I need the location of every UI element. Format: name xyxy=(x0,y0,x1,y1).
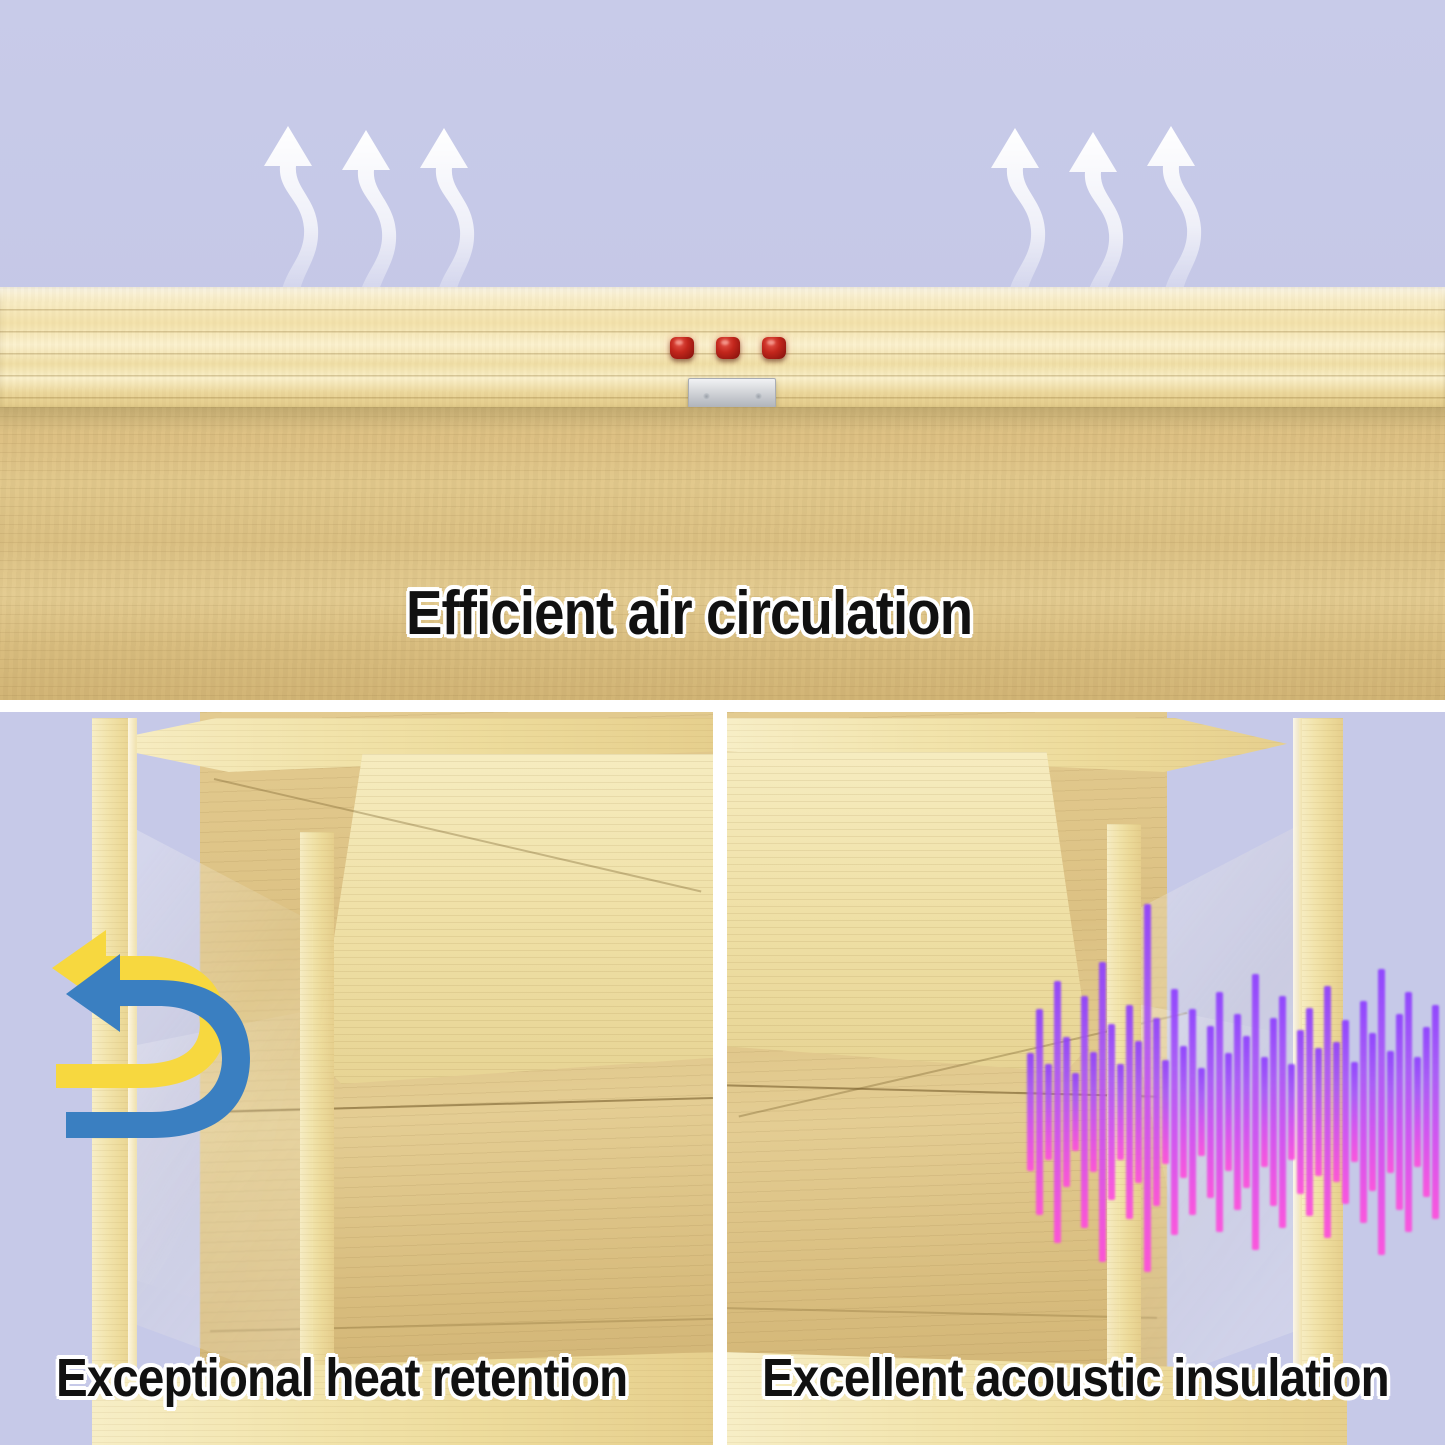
waveform-bar xyxy=(1324,986,1331,1238)
waveform-bar xyxy=(1243,1036,1250,1188)
waveform-bar xyxy=(1432,1005,1439,1219)
waveform-bar xyxy=(1306,1008,1313,1216)
waveform-bar xyxy=(1135,1041,1142,1183)
waveform-bar xyxy=(1180,1046,1187,1178)
face-shadow xyxy=(0,407,1445,433)
waveform-bar xyxy=(1405,992,1412,1232)
waveform-bar xyxy=(1414,1057,1421,1167)
waveform-bar xyxy=(1207,1026,1214,1198)
waveform-bar xyxy=(1099,962,1106,1262)
waveform-bar xyxy=(1234,1014,1241,1210)
lid-highlight xyxy=(0,287,1445,303)
waveform-bar xyxy=(1045,1064,1052,1160)
waveform-bar xyxy=(1360,1001,1367,1223)
waveform-bar xyxy=(1198,1068,1205,1156)
panel-excellent-acoustic-insulation: Excellent acoustic insulation xyxy=(727,712,1445,1445)
waveform-bar xyxy=(1333,1042,1340,1182)
caption-exceptional-heat-retention: Exceptional heat retention xyxy=(56,1347,627,1409)
waveform-bar xyxy=(1090,1052,1097,1172)
waveform-bar xyxy=(1288,1064,1295,1160)
waveform-bar xyxy=(1189,1009,1196,1215)
caption-efficient-air-circulation: Efficient air circulation xyxy=(406,578,972,649)
waveform-bar xyxy=(1117,1064,1124,1160)
waveform-bar xyxy=(1171,989,1178,1235)
panel-efficient-air-circulation: Efficient air circulation xyxy=(0,0,1445,700)
screw-icon xyxy=(755,393,762,400)
panel-divider-vertical xyxy=(713,700,727,1445)
waveform-bar xyxy=(1036,1009,1043,1215)
cabinet-front-face xyxy=(0,407,1445,700)
waveform-bar xyxy=(1252,974,1259,1250)
waveform-bar xyxy=(1162,1060,1169,1164)
led-indicator-icon xyxy=(670,337,694,359)
screw-icon xyxy=(703,393,710,400)
airflow-arrows-left xyxy=(258,110,488,310)
waveform-bar xyxy=(1351,1062,1358,1162)
waveform-bar xyxy=(1108,1024,1115,1200)
metal-bracket-icon xyxy=(688,378,776,408)
waveform-bar xyxy=(1369,1033,1376,1191)
waveform-bar xyxy=(1126,1005,1133,1219)
waveform-bar xyxy=(1153,1018,1160,1206)
waveform-bar xyxy=(1261,1057,1268,1167)
airflow-arrows-right xyxy=(985,110,1215,310)
waveform-bar xyxy=(1342,1020,1349,1204)
waveform-bar xyxy=(1423,1027,1430,1197)
waveform-bar xyxy=(1225,1053,1232,1171)
waveform-bar xyxy=(1270,1018,1277,1206)
waveform-bar xyxy=(1396,1014,1403,1210)
waveform-bar xyxy=(1378,969,1385,1255)
waveform-bar xyxy=(1072,1073,1079,1151)
waveform-bar xyxy=(1279,996,1286,1228)
waveform-bar xyxy=(1054,981,1061,1243)
led-indicator-icon xyxy=(716,337,740,359)
heat-retention-arrows xyxy=(48,920,298,1170)
led-indicator-icon xyxy=(762,337,786,359)
caption-excellent-acoustic-insulation: Excellent acoustic insulation xyxy=(762,1347,1389,1409)
waveform-bar xyxy=(1027,1053,1034,1171)
waveform-bar xyxy=(1144,904,1151,1272)
led-indicator-row xyxy=(670,335,790,363)
waveform-bar xyxy=(1216,992,1223,1232)
waveform-bar xyxy=(1063,1037,1070,1187)
infographic-stage: Efficient air circulation xyxy=(0,0,1445,1445)
waveform-bar xyxy=(1387,1051,1394,1173)
waveform-bar xyxy=(1081,996,1088,1228)
waveform-bar xyxy=(1297,1030,1304,1194)
audio-waveform-icon xyxy=(1027,872,1445,1272)
u-turn-arrow-blue xyxy=(66,954,250,1138)
panel-exceptional-heat-retention: Exceptional heat retention xyxy=(0,712,713,1445)
waveform-bar xyxy=(1315,1048,1322,1176)
